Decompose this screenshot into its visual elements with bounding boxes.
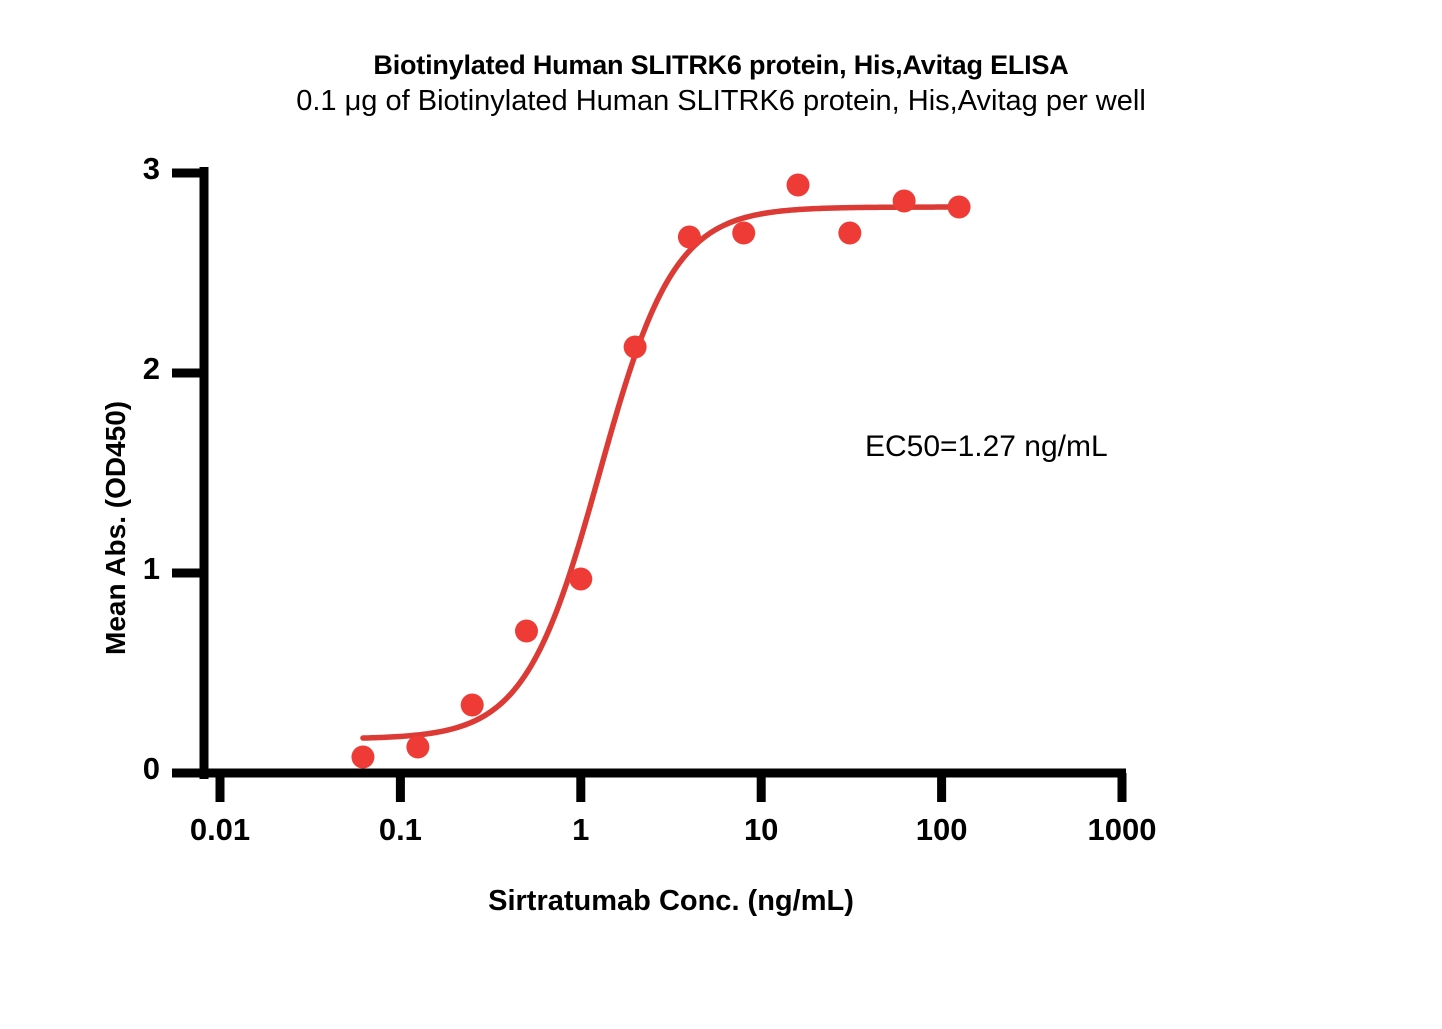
- x-tick-label: 100: [852, 812, 1032, 848]
- chart-figure: Biotinylated Human SLITRK6 protein, His,…: [0, 0, 1442, 1029]
- x-tick-label: 1: [491, 812, 671, 848]
- axis-lines: [200, 167, 1126, 779]
- data-point-group: [351, 174, 970, 769]
- x-tick-label: 0.01: [130, 812, 310, 848]
- x-axis-label: Sirtratumab Conc. (ng/mL): [221, 885, 1121, 918]
- data-point: [787, 174, 810, 197]
- data-point: [678, 226, 701, 249]
- data-point: [351, 746, 374, 769]
- plot-area: [0, 0, 1442, 1029]
- y-tick-label: 0: [110, 751, 160, 787]
- data-point: [732, 222, 755, 245]
- data-point: [948, 196, 971, 219]
- ec50-annotation: EC50=1.27 ng/mL: [865, 430, 1108, 464]
- x-tick-label: 10: [671, 812, 851, 848]
- data-point: [461, 694, 484, 717]
- data-point: [624, 336, 647, 359]
- data-point: [838, 222, 861, 245]
- x-tick-label: 1000: [1032, 812, 1212, 848]
- y-axis-label: Mean Abs. (OD450): [100, 155, 132, 655]
- data-point: [569, 568, 592, 591]
- data-point: [893, 190, 916, 213]
- data-point: [406, 736, 429, 759]
- data-point: [515, 620, 538, 643]
- x-tick-label: 0.1: [310, 812, 490, 848]
- y-tick-marks: [172, 173, 204, 773]
- fit-curve: [363, 207, 959, 738]
